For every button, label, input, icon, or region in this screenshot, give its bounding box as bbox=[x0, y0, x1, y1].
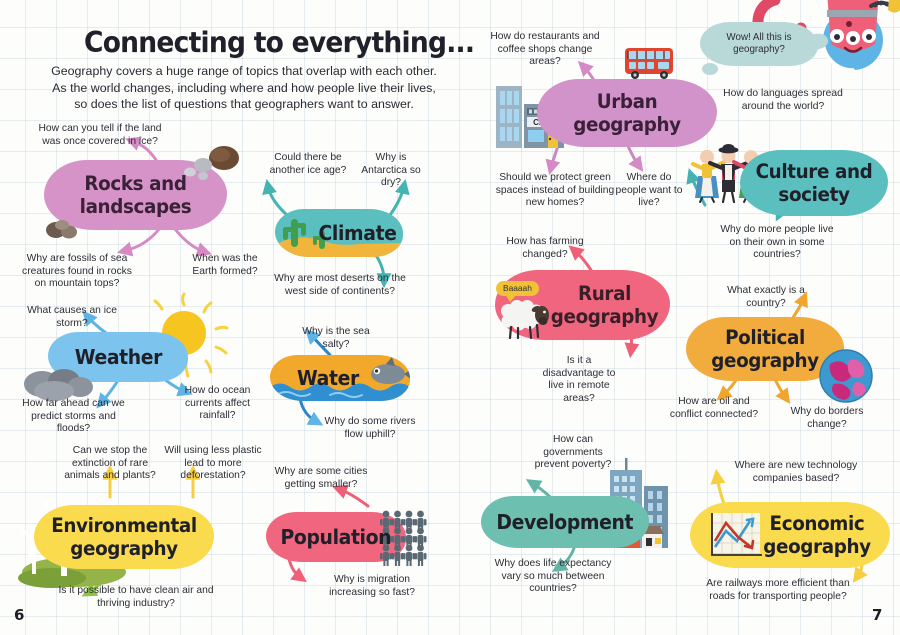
question-water-0: Why is the sea salty? bbox=[298, 326, 374, 351]
topic-urban-geography[interactable]: Urban geography bbox=[537, 79, 717, 147]
rocks-icon-lower bbox=[40, 216, 90, 242]
question-rural-1: Is it a disadvantage to live in remote a… bbox=[535, 355, 623, 405]
speech-tail-small bbox=[702, 63, 718, 75]
question-political-2: Why do borders change? bbox=[785, 406, 869, 431]
question-climate-2: Why are most deserts on the west side of… bbox=[264, 273, 416, 298]
question-rocks-0: How can you tell if the land was once co… bbox=[30, 123, 170, 148]
topic-economic-geography[interactable]: Economic geography bbox=[690, 502, 890, 568]
topic-political-geography[interactable]: Political geography bbox=[686, 317, 844, 381]
topic-label: Rural geography bbox=[543, 282, 666, 328]
page-number-right: 7 bbox=[872, 606, 882, 624]
topic-label: Development bbox=[497, 511, 634, 534]
question-weather-0: What causes an ice storm? bbox=[22, 305, 122, 330]
topic-population[interactable]: Population bbox=[266, 512, 406, 562]
topic-water[interactable]: Water bbox=[270, 355, 410, 401]
topic-label: Weather bbox=[74, 346, 161, 369]
topic-label: Population bbox=[281, 526, 392, 549]
topic-rocks-and-landscapes[interactable]: Rocks and landscapes bbox=[44, 160, 227, 230]
question-urban-0: How do restaurants and coffee shops chan… bbox=[490, 31, 600, 69]
book-spread: Connecting to everything... Geography co… bbox=[0, 0, 900, 635]
question-economic-1: Are railways more efficient than roads f… bbox=[696, 578, 860, 603]
question-population-0: Why are some cities getting smaller? bbox=[262, 466, 380, 491]
question-environmental-2: Is it possible to have clean air and thr… bbox=[56, 585, 216, 610]
question-culture-1: Why do more people live on their own in … bbox=[716, 224, 838, 262]
sheep-speech-bubble: Baaaah bbox=[496, 281, 539, 296]
topic-label: Climate bbox=[319, 222, 397, 245]
page-title: Connecting to everything... bbox=[84, 26, 474, 59]
question-urban-1: Should we protect green spaces instead o… bbox=[495, 172, 615, 210]
question-economic-0: Where are new technology companies based… bbox=[720, 460, 872, 485]
topic-development[interactable]: Development bbox=[481, 496, 649, 548]
question-weather-2: How do ocean currents affect rainfall? bbox=[175, 385, 260, 423]
topic-weather[interactable]: Weather bbox=[48, 332, 188, 382]
topic-environmental-geography[interactable]: Environmental geography bbox=[34, 505, 214, 569]
question-urban-2: Where do people want to live? bbox=[614, 172, 684, 210]
topic-label: Urban geography bbox=[542, 90, 711, 136]
page-intro: Geography covers a huge range of topics … bbox=[44, 63, 444, 113]
question-development-1: Why does life expectancy vary so much be… bbox=[485, 558, 621, 596]
speech-text: Wow! All this is geography? bbox=[700, 32, 818, 56]
question-rocks-2: When was the Earth formed? bbox=[180, 253, 270, 278]
question-rural-0: How has farming changed? bbox=[495, 236, 595, 261]
question-weather-1: How far ahead can we predict storms and … bbox=[16, 398, 131, 436]
question-rocks-1: Why are fossils of sea creatures found i… bbox=[22, 253, 132, 291]
question-development-0: How can governments prevent poverty? bbox=[528, 434, 618, 472]
topic-label: Rocks and landscapes bbox=[49, 172, 221, 218]
topic-culture-and-society[interactable]: Culture and society bbox=[740, 150, 888, 216]
topic-label: Water bbox=[297, 367, 359, 390]
question-political-0: What exactly is a country? bbox=[718, 285, 814, 310]
character-speech-bubble: Wow! All this is geography? bbox=[700, 22, 818, 66]
question-climate-1: Why is Antarctica so dry? bbox=[353, 152, 429, 190]
topic-label: Environmental geography bbox=[39, 514, 208, 560]
topic-label: Culture and society bbox=[744, 160, 883, 206]
topic-label: Political geography bbox=[691, 326, 840, 372]
fish-icon bbox=[366, 359, 410, 393]
topic-climate[interactable]: Climate bbox=[275, 209, 403, 257]
bus-icon bbox=[623, 44, 677, 80]
question-water-1: Why do some rivers flow uphill? bbox=[322, 416, 418, 441]
question-political-1: How are oil and conflict connected? bbox=[668, 396, 760, 421]
page-number-left: 6 bbox=[14, 606, 24, 624]
question-population-1: Why is migration increasing so fast? bbox=[322, 574, 422, 599]
question-climate-0: Could there be another ice age? bbox=[268, 152, 348, 177]
question-culture-0: How do languages spread around the world… bbox=[723, 88, 843, 113]
question-environmental-1: Will using less plastic lead to more def… bbox=[158, 445, 268, 483]
question-environmental-0: Can we stop the extinction of rare anima… bbox=[55, 445, 165, 483]
topic-label: Economic geography bbox=[748, 512, 885, 558]
